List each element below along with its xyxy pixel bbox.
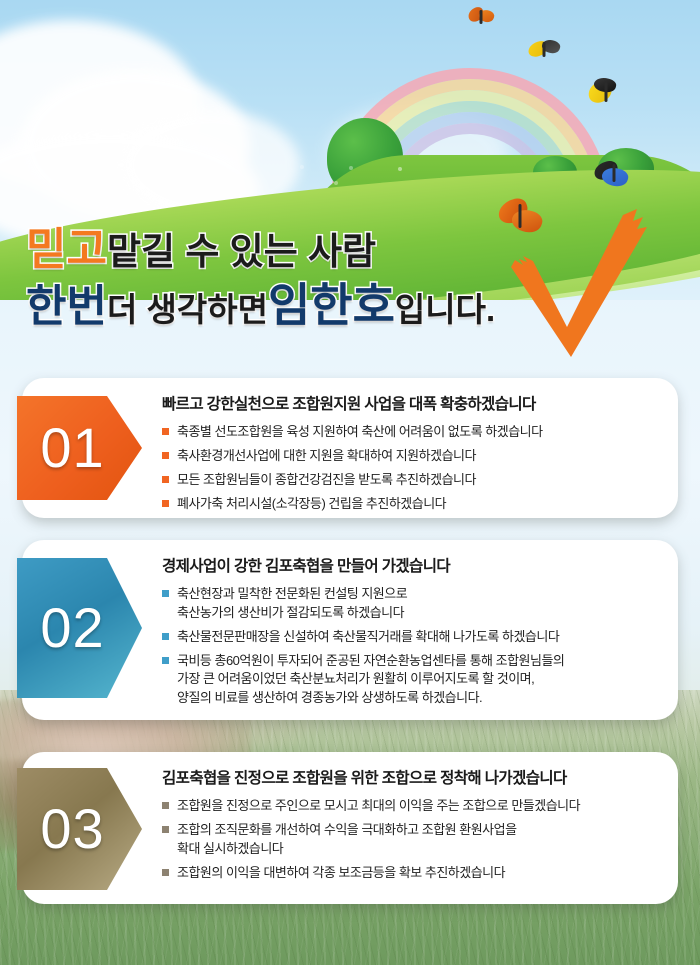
pledge-body-01: 빠르고 강한실천으로 조합원지원 사업을 대폭 확충하겠습니다 축종별 선도조합… — [162, 392, 660, 518]
headline-mid-2: 더 생각하면 — [107, 291, 268, 328]
pledge-item-list: 축산현장과 밀착한 전문화된 컨설팅 지원으로 축산농가의 생산비가 절감되도록… — [162, 585, 660, 708]
pledge-item-list: 조합원을 진정으로 주인으로 모시고 최대의 이익을 주는 조합으로 만들겠습니… — [162, 797, 660, 882]
headline-line-2: 한번더 생각하면임한호입니다. — [26, 282, 586, 329]
pledge-badge-01: 01 — [17, 396, 142, 500]
list-item: 조합의 조직문화를 개선하여 수익을 극대화하고 조합원 환원사업을 확대 실시… — [162, 821, 660, 859]
headline-accent-2: 한번 — [26, 282, 107, 331]
list-item: 조합원을 진정으로 주인으로 모시고 최대의 이익을 주는 조합으로 만들겠습니… — [162, 797, 660, 816]
pledge-card-02[interactable]: 02 경제사업이 강한 김포축협을 만들어 가겠습니다 축산현장과 밀착한 전문… — [22, 540, 678, 720]
pledge-card-03[interactable]: 03 김포축협을 진정으로 조합원을 위한 조합으로 정착해 나가겠습니다 조합… — [22, 752, 678, 904]
pledge-number: 01 — [40, 420, 118, 476]
pledge-badge-02: 02 — [17, 558, 142, 698]
campaign-poster: 믿고맡길 수 있는 사람 한번더 생각하면임한호입니다. 01 빠르고 강한실천… — [0, 0, 700, 965]
headline: 믿고맡길 수 있는 사람 한번더 생각하면임한호입니다. — [26, 228, 586, 329]
list-item: 축종별 선도조합원을 육성 지원하여 축산에 어려움이 없도록 하겠습니다 — [162, 423, 660, 442]
pledge-title: 김포축협을 진정으로 조합원을 위한 조합으로 정착해 나가겠습니다 — [162, 766, 660, 788]
pledge-title: 빠르고 강한실천으로 조합원지원 사업을 대폭 확충하겠습니다 — [162, 392, 660, 414]
list-item: 폐사가축 처리시설(소각장등) 건립을 추진하겠습니다 — [162, 495, 660, 514]
pledge-body-02: 경제사업이 강한 김포축협을 만들어 가겠습니다 축산현장과 밀착한 전문화된 … — [162, 554, 660, 713]
list-item: 조합원의 이익을 대변하여 각종 보조금등을 확보 추진하겠습니다 — [162, 864, 660, 883]
list-item: 축산물전문판매장을 신설하여 축산물직거래를 확대해 나가도록 하겠습니다 — [162, 628, 660, 647]
headline-rest-1: 맡길 수 있는 사람 — [107, 231, 376, 272]
pledge-card-01[interactable]: 01 빠르고 강한실천으로 조합원지원 사업을 대폭 확충하겠습니다 축종별 선… — [22, 378, 678, 518]
list-item: 모든 조합원님들이 종합건강검진을 받도록 추진하겠습니다 — [162, 471, 660, 490]
pledge-body-03: 김포축협을 진정으로 조합원을 위한 조합으로 정착해 나가겠습니다 조합원을 … — [162, 766, 660, 887]
list-item: 축산현장과 밀착한 전문화된 컨설팅 지원으로 축산농가의 생산비가 절감되도록… — [162, 585, 660, 623]
headline-accent-1: 믿고 — [26, 225, 107, 274]
pledge-title: 경제사업이 강한 김포축협을 만들어 가겠습니다 — [162, 554, 660, 576]
tree-icon — [555, 156, 559, 160]
tree-icon — [626, 148, 630, 152]
list-item: 축사환경개선사업에 대한 지원을 확대하여 지원하겠습니다 — [162, 447, 660, 466]
candidate-name: 임한호 — [268, 279, 395, 331]
pledge-item-list: 축종별 선도조합원을 육성 지원하여 축산에 어려움이 없도록 하겠습니다 축사… — [162, 423, 660, 513]
pledge-badge-03: 03 — [17, 768, 142, 890]
headline-tail-2: 입니다. — [395, 291, 495, 328]
tree-icon — [365, 118, 369, 122]
pledge-number: 03 — [40, 801, 118, 857]
list-item: 국비등 총60억원이 투자되어 준공된 자연순환농업센타를 통해 조합원님들의 … — [162, 652, 660, 709]
pledge-number: 02 — [40, 600, 118, 656]
headline-line-1: 믿고맡길 수 있는 사람 — [26, 228, 586, 272]
